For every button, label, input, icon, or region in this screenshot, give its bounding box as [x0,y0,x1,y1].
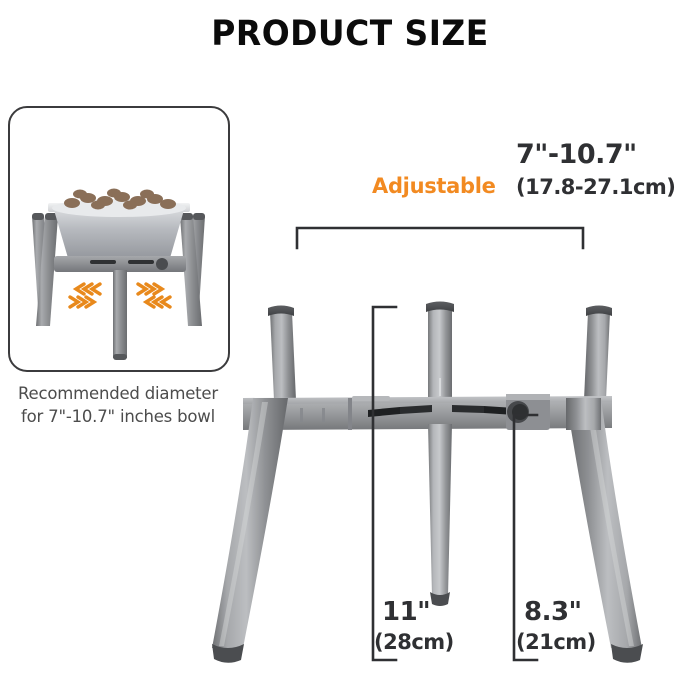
width-inches-label: 7"-10.7" [516,139,637,170]
leg-height-metric-label: (21cm) [516,630,596,654]
width-bracket [297,228,583,248]
measurement-overlay [0,0,700,700]
width-metric-label: (17.8-27.1cm) [516,175,675,199]
leg-height-inches-label: 8.3" [524,597,582,627]
adjustable-badge: Adjustable [372,174,496,198]
height-metric-label: (28cm) [374,630,454,654]
height-inches-label: 11" [382,597,430,627]
product-size-infographic: PRODUCT SIZE [0,0,700,700]
